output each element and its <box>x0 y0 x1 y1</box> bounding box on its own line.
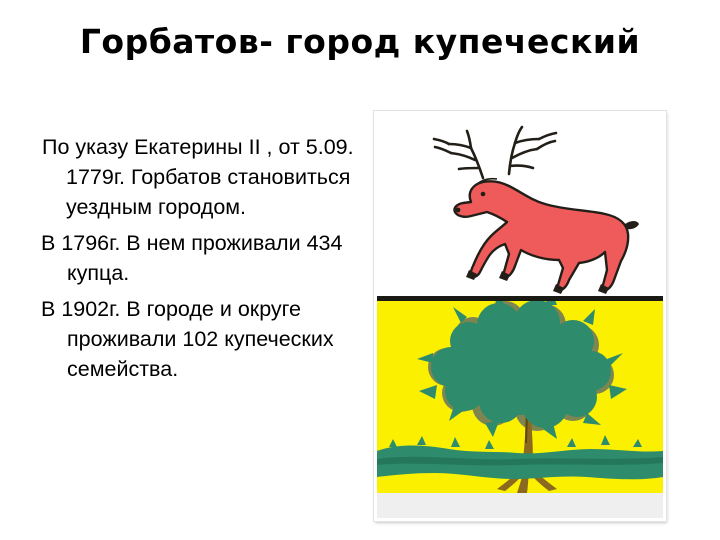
deer-icon <box>409 120 641 296</box>
page-title: Горбатов- город купеческий <box>0 22 720 61</box>
coat-of-arms-canvas <box>377 114 663 518</box>
body-paragraph: По указу Екатерины II , от 5.09. 1779г. … <box>28 132 358 222</box>
body-paragraph: В 1796г. В нем проживали 434 купца. <box>28 228 358 288</box>
coat-upper-field <box>377 114 663 296</box>
tree-icon <box>377 301 663 493</box>
coat-base-strip <box>377 493 663 518</box>
body-paragraph: В 1902г. В городе и округе проживали 102… <box>28 294 358 384</box>
coat-of-arms-image <box>374 111 666 521</box>
body-text-column: По указу Екатерины II , от 5.09. 1779г. … <box>28 132 358 390</box>
coat-lower-field <box>377 301 663 493</box>
slide: Горбатов- город купеческий По указу Екат… <box>0 0 720 540</box>
